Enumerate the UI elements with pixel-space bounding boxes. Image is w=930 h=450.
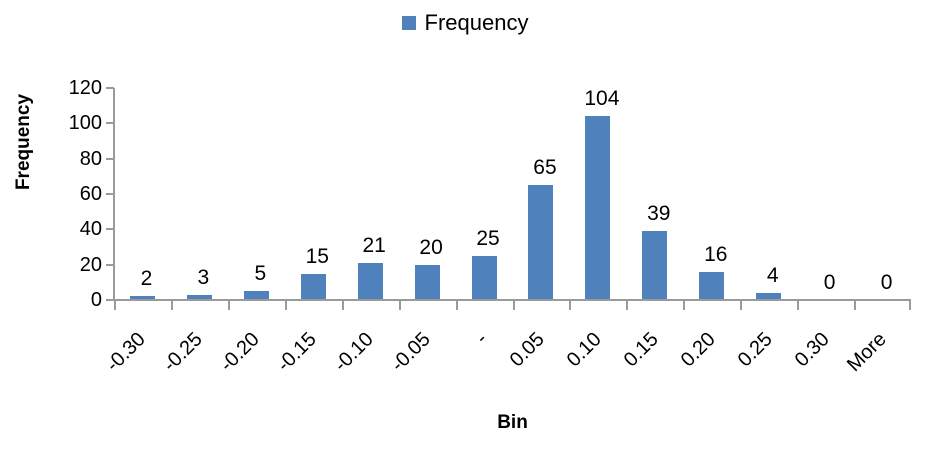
y-axis-tick-label: 20 xyxy=(36,255,102,275)
bar xyxy=(585,116,610,300)
y-axis-tick xyxy=(106,122,114,124)
bar xyxy=(301,274,326,301)
y-axis-tick-label: 100 xyxy=(36,113,102,133)
y-axis-tick-label: 120 xyxy=(36,78,102,98)
bar-data-label: 15 xyxy=(287,246,347,267)
x-axis-tick xyxy=(854,301,856,310)
y-axis-tick xyxy=(106,158,114,160)
y-axis-tick-label: 80 xyxy=(36,149,102,169)
x-axis-tick xyxy=(683,301,685,310)
bar xyxy=(415,265,440,300)
x-axis-tick xyxy=(513,301,515,310)
x-axis-tick xyxy=(342,301,344,310)
y-axis-title: Frequency xyxy=(13,72,35,212)
bar-data-label: 0 xyxy=(800,272,860,293)
bar-data-label: 16 xyxy=(686,244,746,265)
y-axis-tick xyxy=(106,193,114,195)
bar-data-label: 65 xyxy=(515,157,575,178)
bar-data-label: 21 xyxy=(344,235,404,256)
bar-data-label: 25 xyxy=(458,228,518,249)
y-axis-tick-label: 0 xyxy=(36,290,102,310)
x-axis-tick xyxy=(797,301,799,310)
plot-area: 23515212025651043916400 xyxy=(114,88,911,300)
x-axis-title: Bin xyxy=(114,412,911,434)
legend-swatch-icon xyxy=(402,16,416,30)
legend-item-frequency: Frequency xyxy=(425,12,529,34)
bar-data-label: 39 xyxy=(629,203,689,224)
x-axis-tick xyxy=(456,301,458,310)
bar-data-label: 20 xyxy=(401,237,461,258)
bar-data-label: 2 xyxy=(116,268,176,289)
y-axis-tick-label: 40 xyxy=(36,219,102,239)
bar-data-label: 0 xyxy=(857,272,917,293)
x-axis-tick xyxy=(399,301,401,310)
bar xyxy=(472,256,497,300)
x-axis-tick xyxy=(285,301,287,310)
bar-data-label: 4 xyxy=(743,265,803,286)
bar xyxy=(358,263,383,300)
bar-data-label: 104 xyxy=(572,88,632,109)
y-axis-tick xyxy=(106,228,114,230)
bar xyxy=(528,185,553,300)
bar-data-label: 3 xyxy=(173,267,233,288)
x-axis-tick xyxy=(228,301,230,310)
frequency-histogram-chart: Frequency Frequency 020406080100120 2351… xyxy=(0,0,930,450)
y-axis-tick xyxy=(106,264,114,266)
bar-data-label: 5 xyxy=(230,263,290,284)
bar xyxy=(642,231,667,300)
x-axis-tick xyxy=(740,301,742,310)
bar xyxy=(699,272,724,300)
x-axis-tick xyxy=(569,301,571,310)
x-axis-tick xyxy=(171,301,173,310)
y-axis-tick xyxy=(106,87,114,89)
x-axis-tick xyxy=(626,301,628,310)
x-axis-tick xyxy=(114,301,116,310)
y-axis-tick-label: 60 xyxy=(36,184,102,204)
chart-legend: Frequency xyxy=(0,12,930,34)
x-axis-tick xyxy=(909,301,911,310)
